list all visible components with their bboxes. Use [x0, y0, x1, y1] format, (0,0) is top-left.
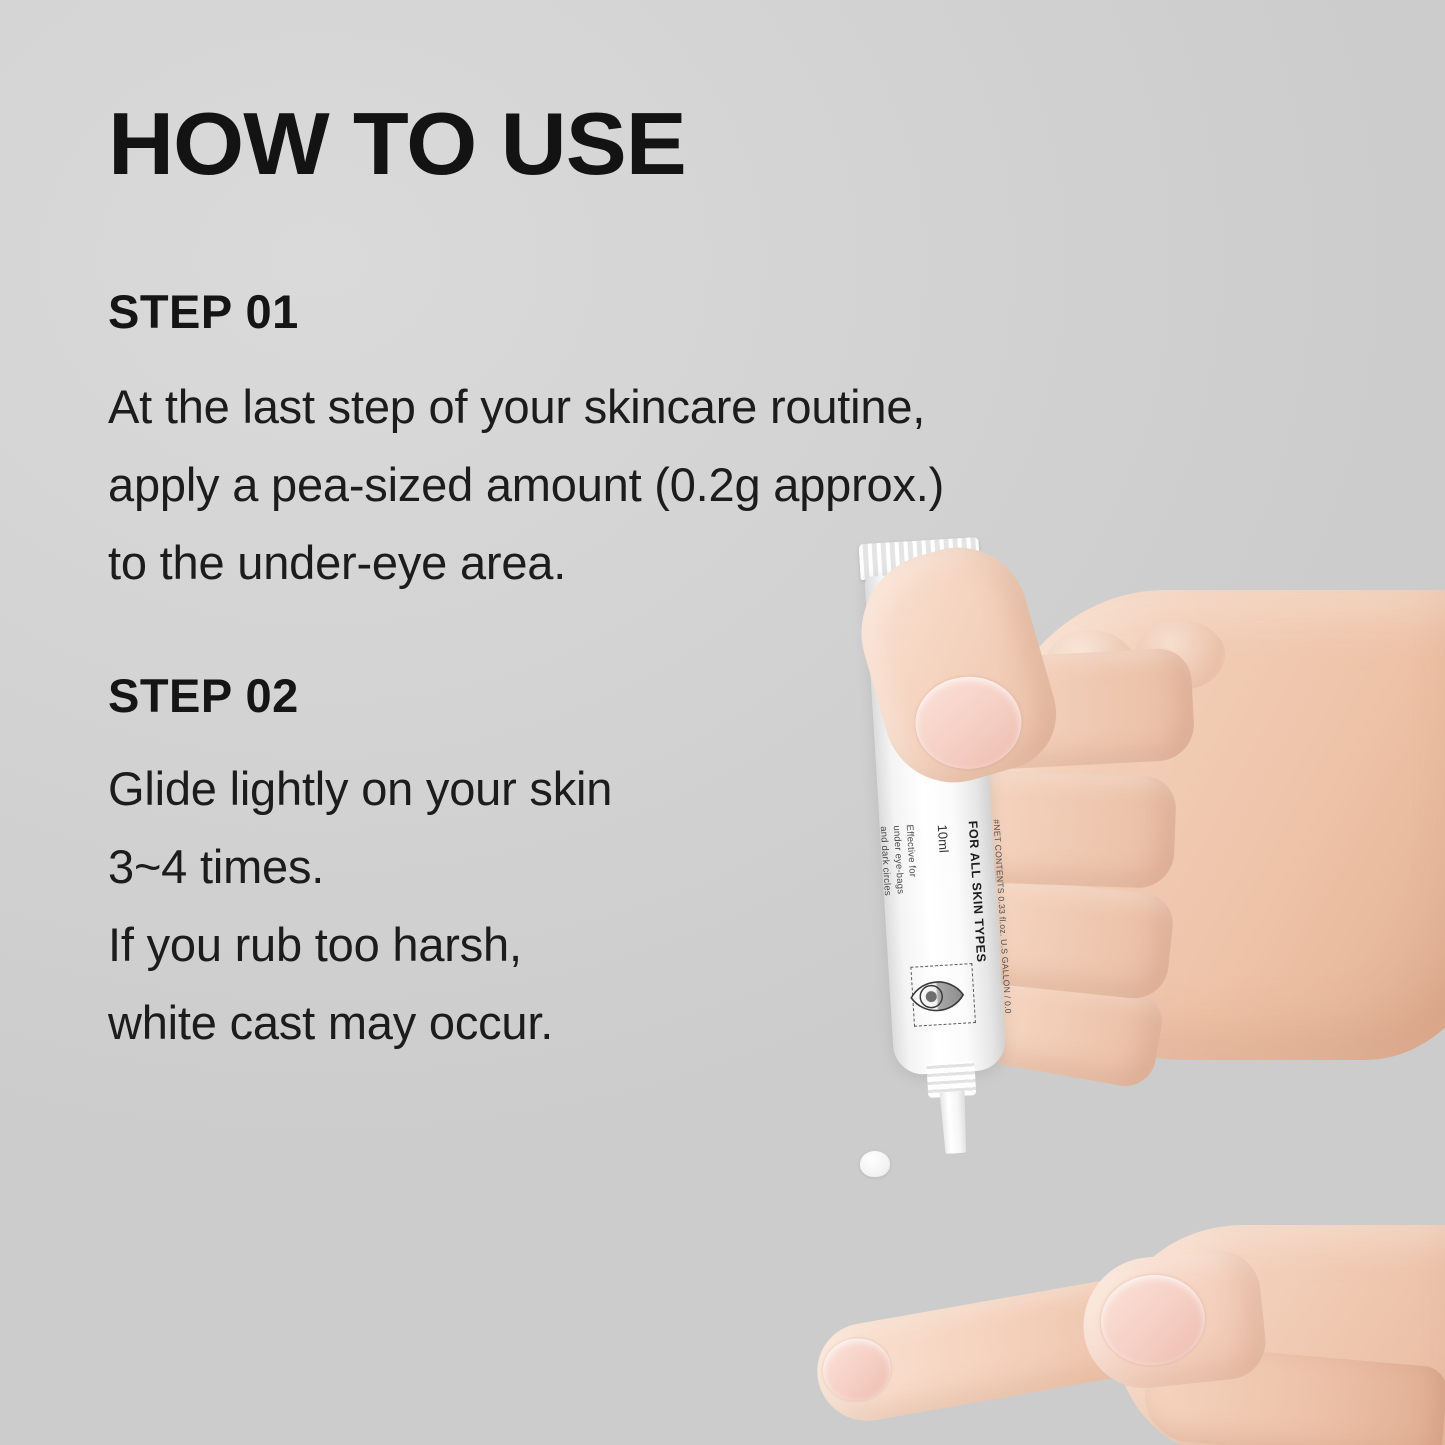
tube-effective-for: Effective for under eye-bags and dark ci…	[877, 824, 920, 896]
step-01-line-1: At the last step of your skincare routin…	[108, 368, 944, 446]
tube-skin-types: FOR ALL SKIN TYPES	[966, 820, 989, 963]
step-02-line-2: 3~4 times.	[108, 828, 612, 906]
step-01-heading: STEP 01	[108, 288, 299, 335]
thumbnail	[914, 675, 1023, 771]
step-02-line-1: Glide lightly on your skin	[108, 750, 612, 828]
second-hand-thumb	[1077, 1246, 1270, 1394]
tube-volume: 10ml	[935, 824, 952, 853]
how-to-use-infographic: HOW TO USE STEP 01 At the last step of y…	[0, 0, 1445, 1445]
step-02-line-4: white cast may occur.	[108, 984, 612, 1062]
hand-with-extended-finger	[815, 1195, 1445, 1445]
step-02-body: Glide lightly on your skin 3~4 times. If…	[108, 750, 612, 1062]
tube-nozzle-tip	[937, 1091, 971, 1155]
eye-logo-frame	[910, 963, 976, 1027]
step-01-line-2: apply a pea-sized amount (0.2g approx.)	[108, 446, 944, 524]
thumbnail	[1096, 1270, 1209, 1370]
product-photo: Melaxin EPHALTEP AM for EYEBAGS Effectiv…	[825, 0, 1445, 1445]
step-01-body: At the last step of your skincare routin…	[108, 368, 944, 602]
fingernail	[818, 1333, 896, 1406]
hand-holding-tube: Melaxin EPHALTEP AM for EYEBAGS Effectiv…	[865, 560, 1445, 1120]
step-02-heading: STEP 02	[108, 672, 299, 719]
cream-dot	[860, 1151, 890, 1177]
page-title: HOW TO USE	[108, 100, 686, 188]
step-01-line-3: to the under-eye area.	[108, 524, 944, 602]
step-02-line-3: If you rub too harsh,	[108, 906, 612, 984]
